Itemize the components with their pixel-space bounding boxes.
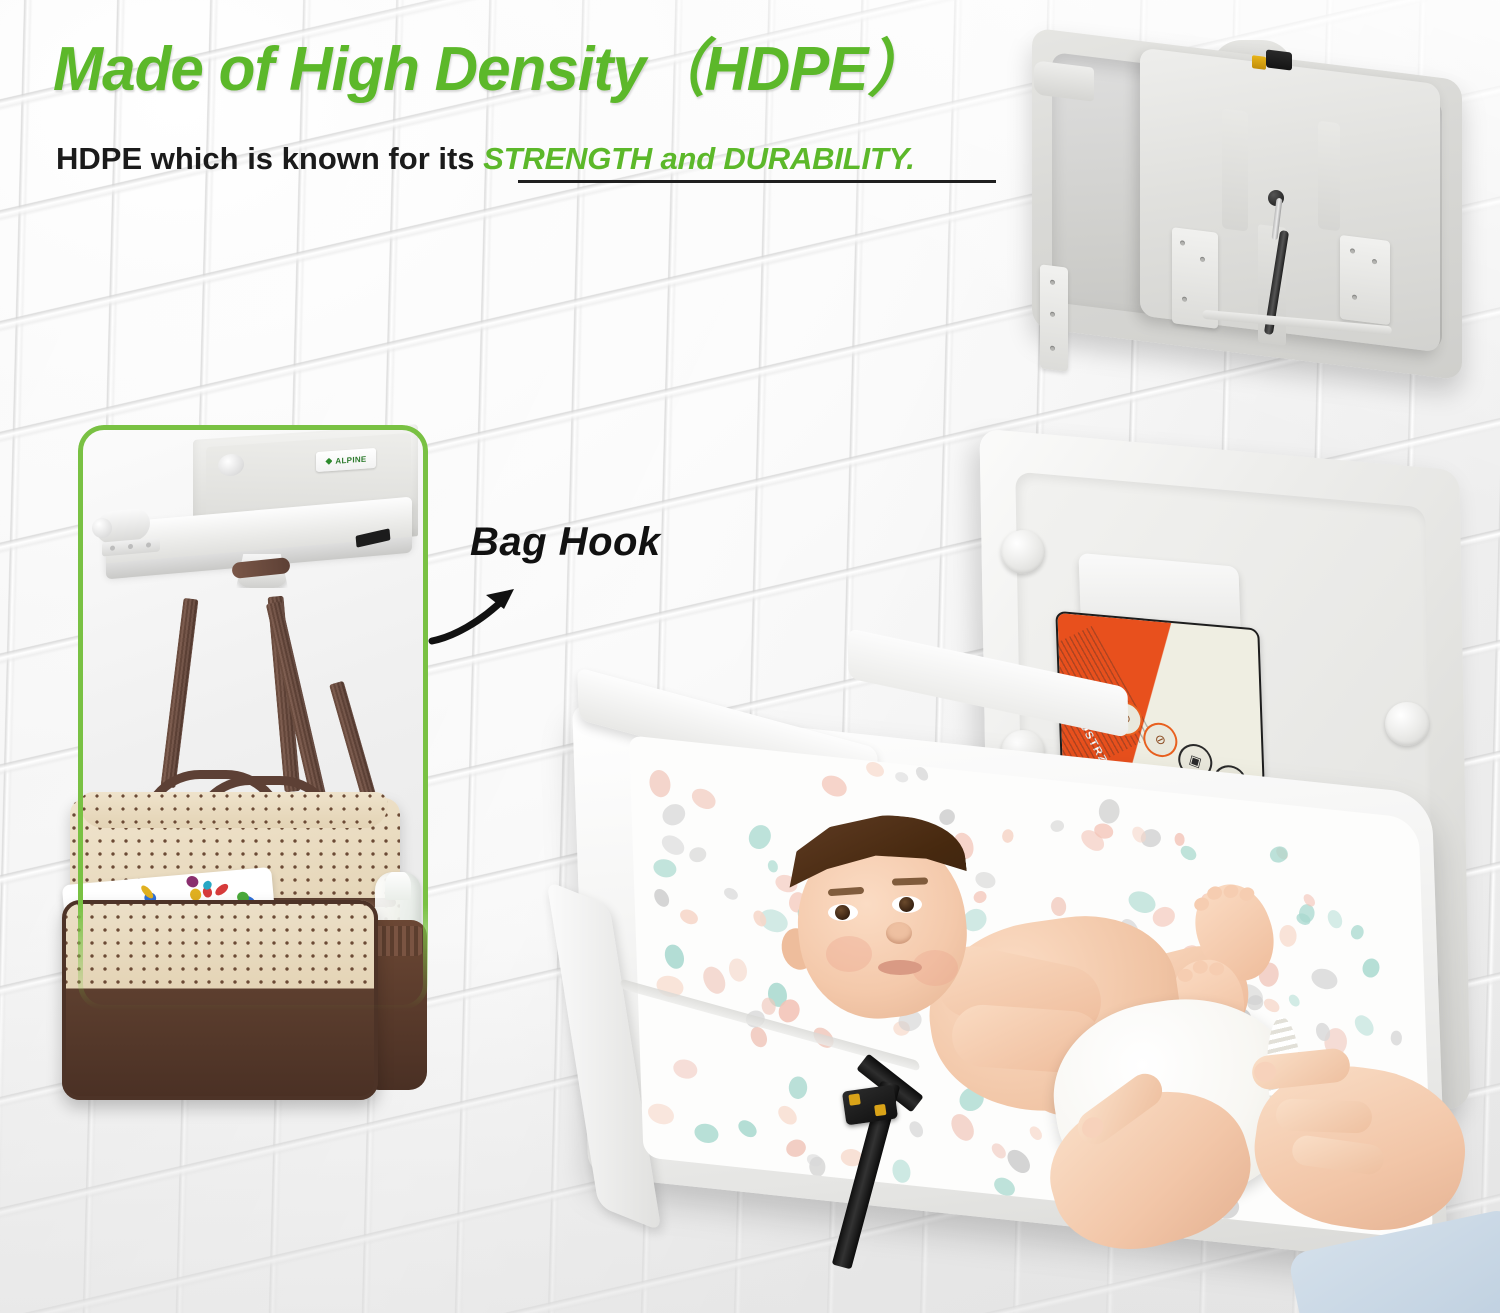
- baby-eye-right: [892, 896, 922, 913]
- callout-label-bag-hook: Bag Hook: [470, 520, 661, 565]
- callout-arrow-icon: [428, 575, 538, 645]
- inset-panel-border: [78, 425, 428, 1010]
- folded-unit-rib-left: [1222, 108, 1248, 231]
- caregiver-finger-middle: [1275, 1098, 1372, 1133]
- baby-nose: [886, 922, 912, 944]
- bolt-cap-top-left: [1001, 530, 1045, 574]
- baby-mouth: [878, 960, 922, 975]
- baby-cheek-left: [826, 936, 872, 972]
- subheadline: HDPE which is known for its STRENGTH and…: [56, 140, 1056, 177]
- folded-unit-mount-plate-right: [1340, 235, 1390, 325]
- folded-changing-station: [1022, 30, 1482, 400]
- subheadline-underline: [518, 180, 996, 183]
- folded-unit-side-tab: [1034, 60, 1094, 101]
- folded-unit-wall-bracket: [1040, 264, 1068, 371]
- folded-unit-safety-buckle: [1266, 49, 1292, 70]
- folded-unit-rib-right: [1318, 121, 1340, 232]
- subheadline-highlight: STRENGTH and DURABILITY.: [483, 141, 915, 176]
- subheadline-prefix: HDPE which is known for its: [56, 141, 483, 176]
- baby-brow-right: [892, 877, 928, 885]
- baby-eye-left: [828, 904, 858, 921]
- headline: Made of High Density（HDPE）: [53, 38, 984, 102]
- folded-unit-buckle-yellow: [1252, 55, 1266, 70]
- product-image-canvas: Made of High Density（HDPE） HDPE which is…: [0, 0, 1500, 1313]
